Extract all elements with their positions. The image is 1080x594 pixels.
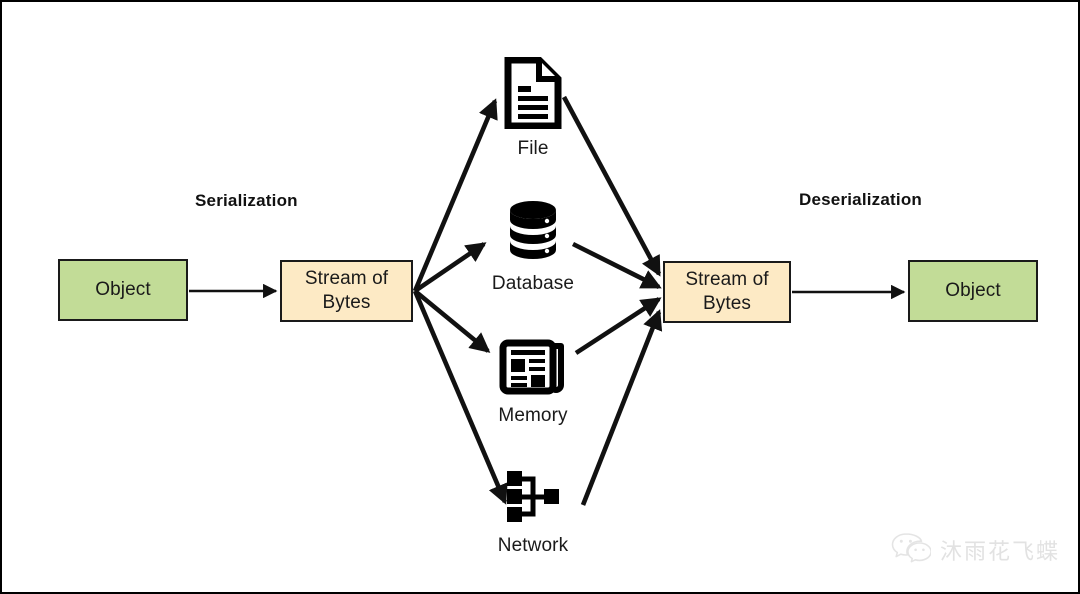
store-node-file[interactable]: File (458, 57, 608, 160)
watermark-text: 沐雨花飞蝶 (940, 534, 1060, 566)
wechat-icon (891, 531, 931, 568)
section-title-serialization: Serialization (195, 191, 298, 211)
node-stream-left-line1: Stream of (305, 268, 388, 289)
node-object-right-label: Object (945, 279, 1001, 303)
section-title-deserialization: Deserialization (799, 190, 922, 210)
diagram-canvas: Serialization Deserialization Object Str… (0, 0, 1080, 594)
file-icon (504, 57, 562, 134)
store-label-network: Network (498, 535, 568, 557)
node-stream-right-line1: Stream of (685, 269, 768, 290)
store-node-database[interactable]: Database (458, 198, 608, 295)
node-stream-left-line2: Bytes (322, 292, 370, 313)
node-stream-right-line2: Bytes (703, 293, 751, 314)
store-label-memory: Memory (498, 405, 567, 427)
node-object-left-label: Object (95, 278, 151, 302)
store-node-network[interactable]: Network (458, 468, 608, 557)
store-label-database: Database (492, 273, 574, 295)
node-stream-of-bytes-right[interactable]: Stream of Bytes (663, 261, 791, 323)
node-stream-left-text: Stream of Bytes (305, 267, 388, 316)
store-node-memory[interactable]: Memory (458, 338, 608, 427)
node-stream-of-bytes-left[interactable]: Stream of Bytes (280, 260, 413, 322)
node-object-right[interactable]: Object (908, 260, 1038, 322)
node-object-left[interactable]: Object (58, 259, 188, 321)
network-icon (499, 468, 567, 531)
connector-fan-out (415, 101, 505, 502)
store-label-file: File (517, 138, 548, 160)
node-stream-right-text: Stream of Bytes (685, 268, 768, 317)
memory-icon (497, 338, 569, 401)
database-icon (502, 198, 564, 269)
watermark: 沐雨花飞蝶 (891, 531, 1060, 568)
